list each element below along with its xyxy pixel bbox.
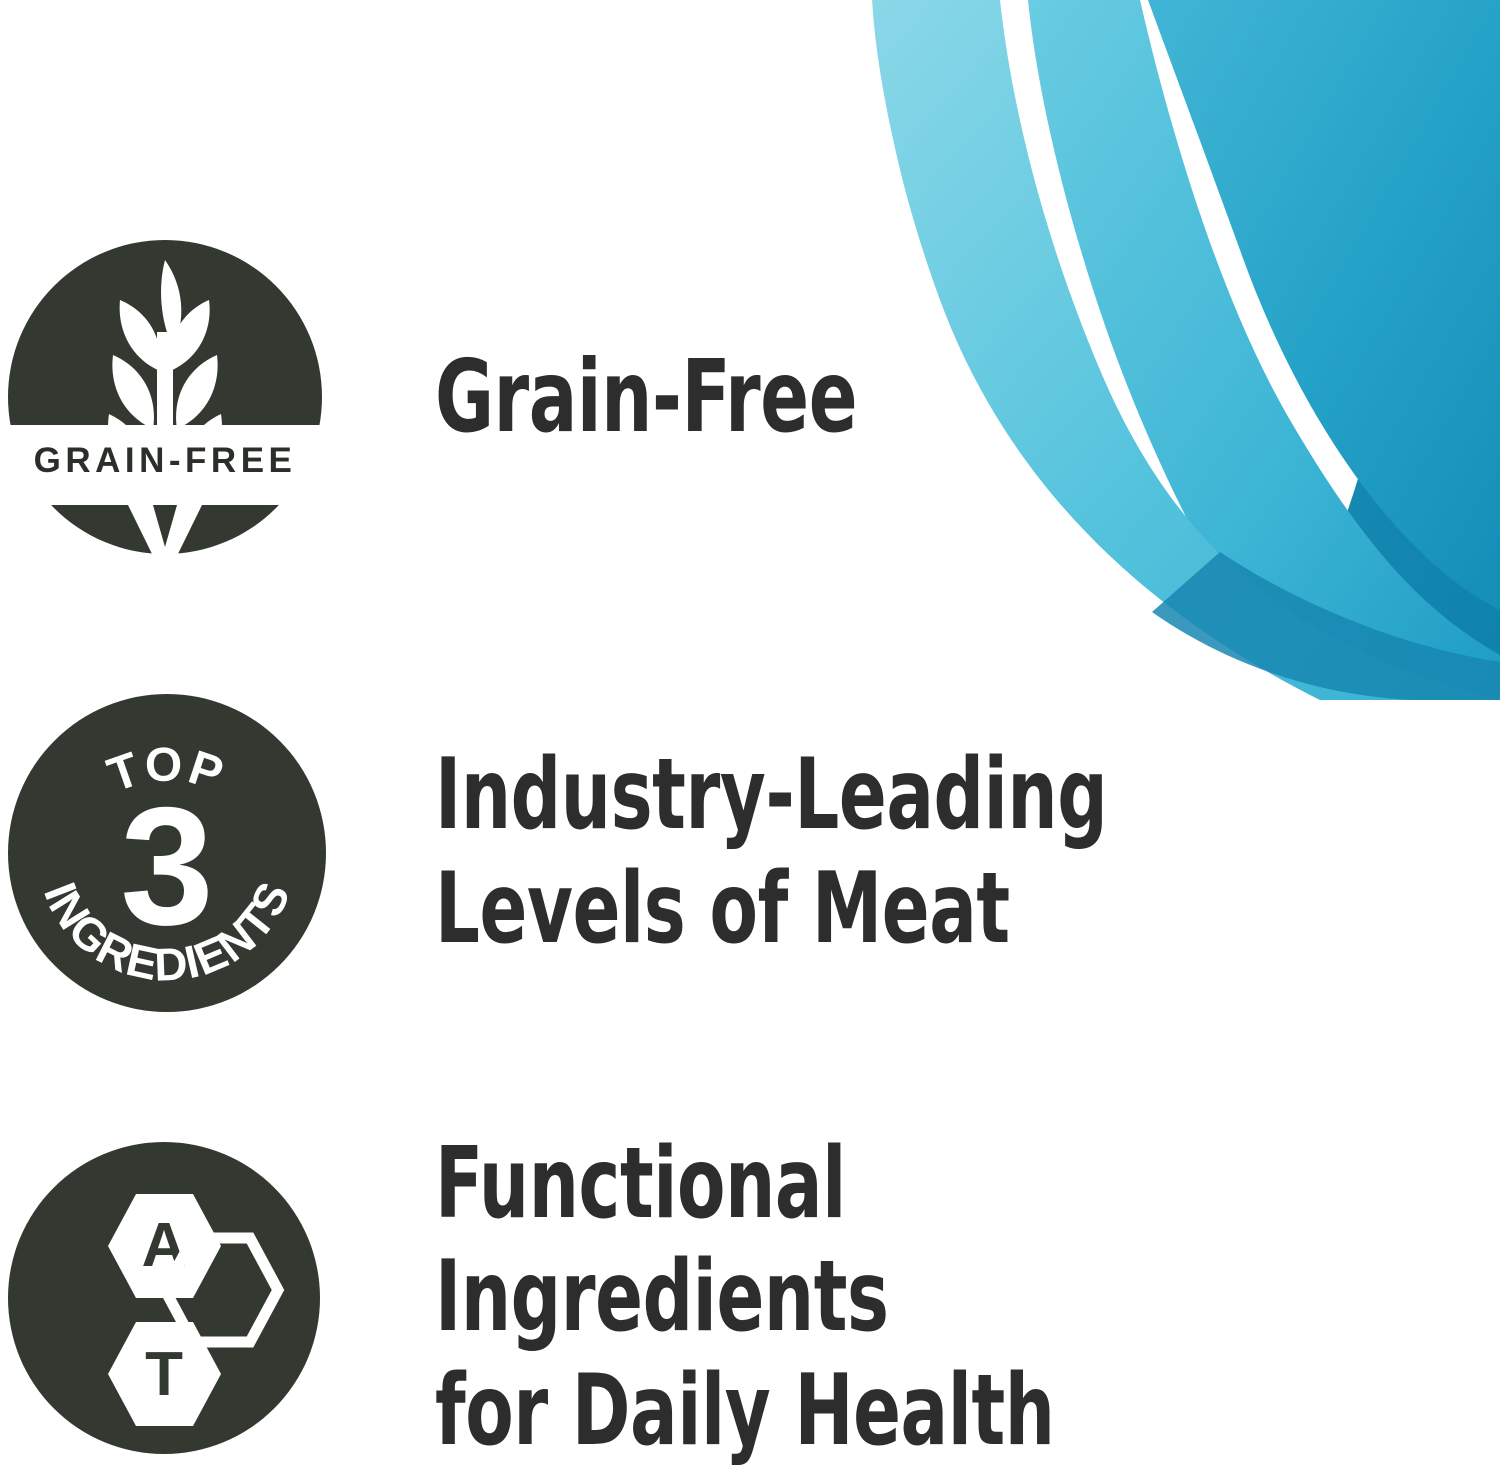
product-feature-panel: GRAIN-FREE Grain-Free TOP 3 INGREDIENTS (0, 0, 1500, 1465)
top-3-ingredients-badge-icon: TOP 3 INGREDIENTS (8, 692, 326, 1014)
badge-number: 3 (120, 772, 213, 960)
badge-slot-1: GRAIN-FREE (0, 232, 330, 562)
feature-row-top-3-ingredients: TOP 3 INGREDIENTS Industry-Leading Level… (0, 692, 1400, 1014)
hexagon-t-label: T (145, 1340, 183, 1409)
grain-free-badge-label: GRAIN-FREE (34, 441, 297, 480)
badge-slot-3: A T (0, 1142, 330, 1454)
feature-label-functional-ingredients-daily-health: Functional Ingredients for Daily Health (435, 1128, 1207, 1465)
functional-ingredients-badge-icon: A T (8, 1142, 320, 1454)
feature-row-functional-ingredients: A T Functional Ingredients for Daily Hea… (0, 1142, 1400, 1454)
grain-free-badge-icon: GRAIN-FREE (8, 232, 322, 562)
badge-slot-2: TOP 3 INGREDIENTS (0, 692, 330, 1014)
swoosh-rim (1152, 552, 1500, 700)
feature-label-grain-free: Grain-Free (435, 339, 1207, 455)
feature-label-industry-leading-meat: Industry-Leading Levels of Meat (435, 739, 1207, 966)
feature-row-grain-free: GRAIN-FREE Grain-Free (0, 232, 1400, 562)
